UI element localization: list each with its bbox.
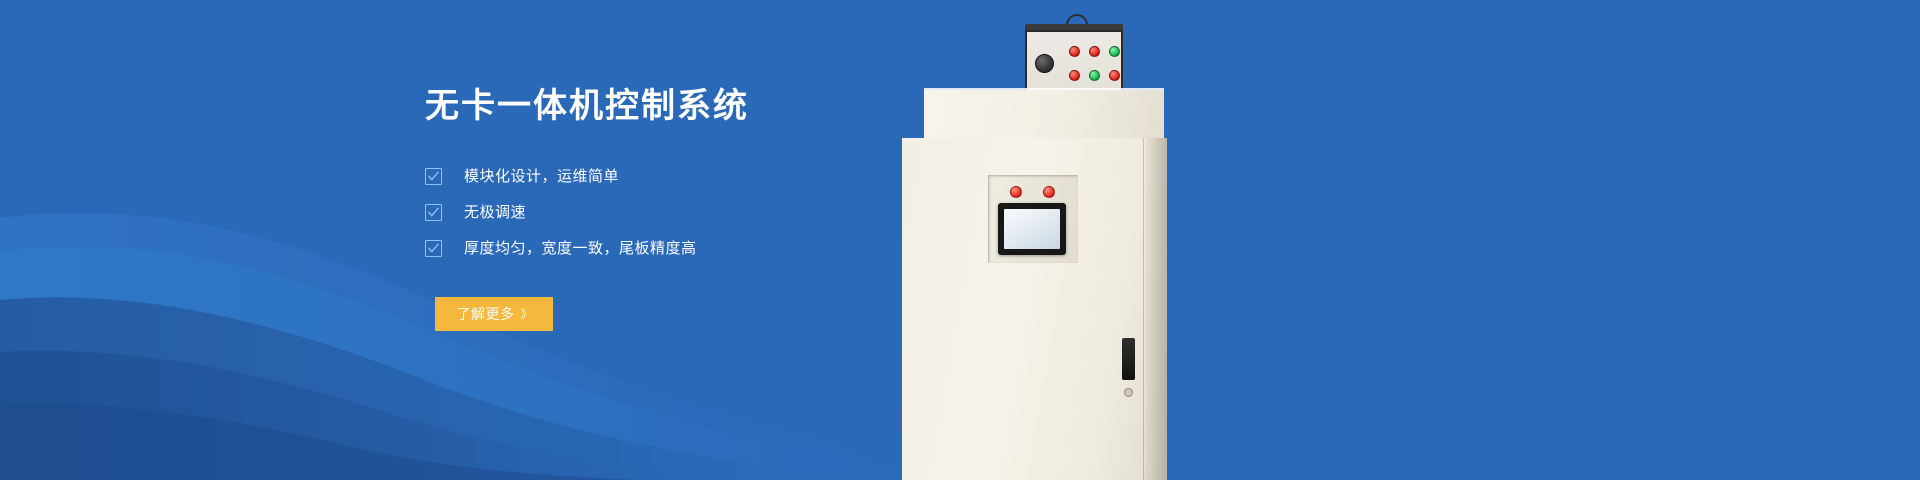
checkbox-check-icon (425, 204, 442, 221)
panel-lamp-red-right (1043, 186, 1055, 198)
feature-label: 无极调速 (464, 203, 526, 223)
control-head-panel (1025, 30, 1123, 92)
panel-lamp-red-left (1010, 186, 1022, 198)
chevron-right-icon: 》 (520, 305, 531, 322)
lamp-red-3 (1069, 70, 1080, 81)
hero-banner: 无卡一体机控制系统 模块化设计，运维简单 无极调速 (0, 0, 1920, 480)
learn-more-label: 了解更多 (456, 304, 514, 324)
door-lock-icon (1124, 388, 1133, 397)
learn-more-button[interactable]: 了解更多 》 (435, 297, 553, 331)
checkbox-check-icon (425, 168, 442, 185)
control-cabinet-photo (900, 0, 1200, 480)
feature-label: 模块化设计，运维简单 (464, 167, 619, 187)
feature-label: 厚度均匀，宽度一致，尾板精度高 (464, 239, 697, 259)
checkbox-check-icon (425, 240, 442, 257)
lamp-green-2 (1089, 70, 1100, 81)
lamp-green-1 (1109, 46, 1120, 57)
lamp-red-1 (1069, 46, 1080, 57)
cabinet-door-seam (1143, 138, 1144, 480)
hmi-screen-glass (1004, 209, 1060, 249)
selector-knob-icon (1035, 54, 1054, 73)
lamp-red-2 (1089, 46, 1100, 57)
hmi-touchscreen (998, 203, 1066, 255)
cabinet-top-ledge (924, 90, 1164, 140)
lamp-red-4 (1109, 70, 1120, 81)
door-handle (1122, 338, 1135, 380)
